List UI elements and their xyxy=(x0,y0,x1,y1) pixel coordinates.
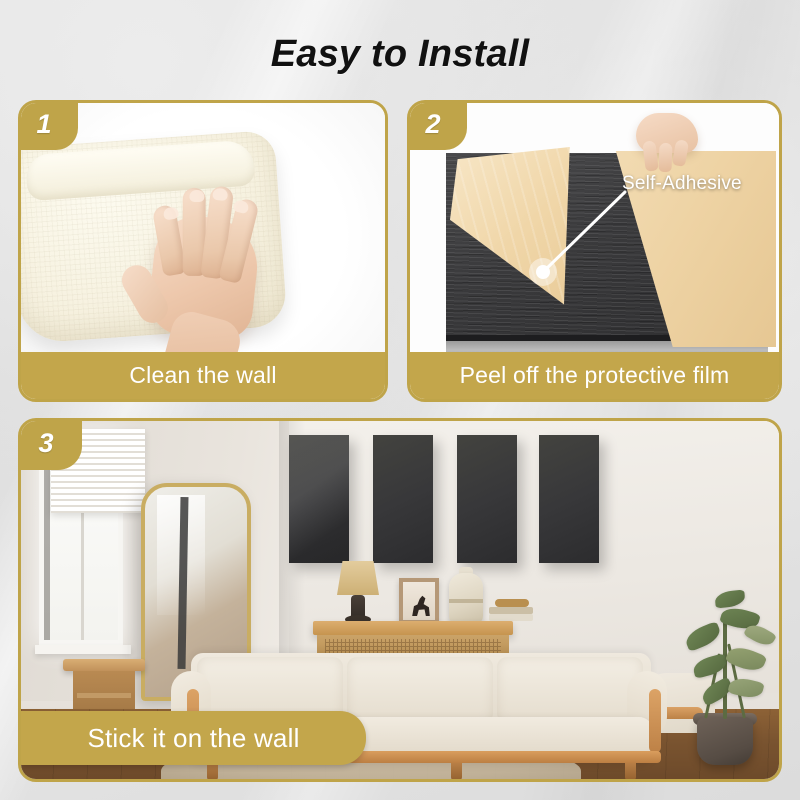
plant-pot xyxy=(697,717,753,765)
infographic-page: Easy to Install 1 Clean the wall xyxy=(0,0,800,800)
sofa-leg xyxy=(451,763,462,779)
step-caption-2: Peel off the protective film xyxy=(410,352,779,399)
plant-stem xyxy=(723,617,727,719)
step-card-3: 3 Stick it on the wall xyxy=(18,418,782,782)
page-title: Easy to Install xyxy=(0,33,800,76)
horse-silhouette xyxy=(410,594,432,616)
sofa-back-cushion xyxy=(347,657,493,723)
framed-artwork xyxy=(399,578,439,624)
wall-acoustic-panel xyxy=(539,435,599,563)
window-sill xyxy=(35,645,131,654)
step-number-badge-1: 1 xyxy=(20,102,78,150)
step-caption-1: Clean the wall xyxy=(21,352,385,399)
sofa-leg xyxy=(625,763,636,779)
wall-acoustic-panel xyxy=(289,435,349,563)
wall-acoustic-panel xyxy=(457,435,517,563)
step-number-badge-3: 3 xyxy=(20,420,82,470)
table-lamp-shade xyxy=(337,561,379,595)
stacked-book xyxy=(489,614,533,621)
console-table-top xyxy=(313,621,513,635)
fingernail-shape xyxy=(189,190,204,202)
mirror-reflected-frame xyxy=(177,497,188,669)
artwork-canvas xyxy=(403,582,435,620)
stacked-book xyxy=(489,607,533,614)
vase-decorative-band xyxy=(449,599,483,603)
wall-acoustic-panel xyxy=(373,435,433,563)
sofa-back-cushion xyxy=(497,657,643,723)
sofa-leg xyxy=(207,763,218,779)
step-caption-3: Stick it on the wall xyxy=(21,711,366,765)
step-number-badge-2: 2 xyxy=(409,102,467,150)
hand-illustration xyxy=(129,159,278,376)
self-adhesive-label: Self-Adhesive xyxy=(622,173,742,195)
step-card-1: 1 Clean the wall xyxy=(18,100,388,402)
side-table-top xyxy=(63,659,145,671)
side-table-shelf xyxy=(77,693,131,698)
sofa-wood-post xyxy=(649,689,661,753)
stacked-book xyxy=(495,599,529,607)
